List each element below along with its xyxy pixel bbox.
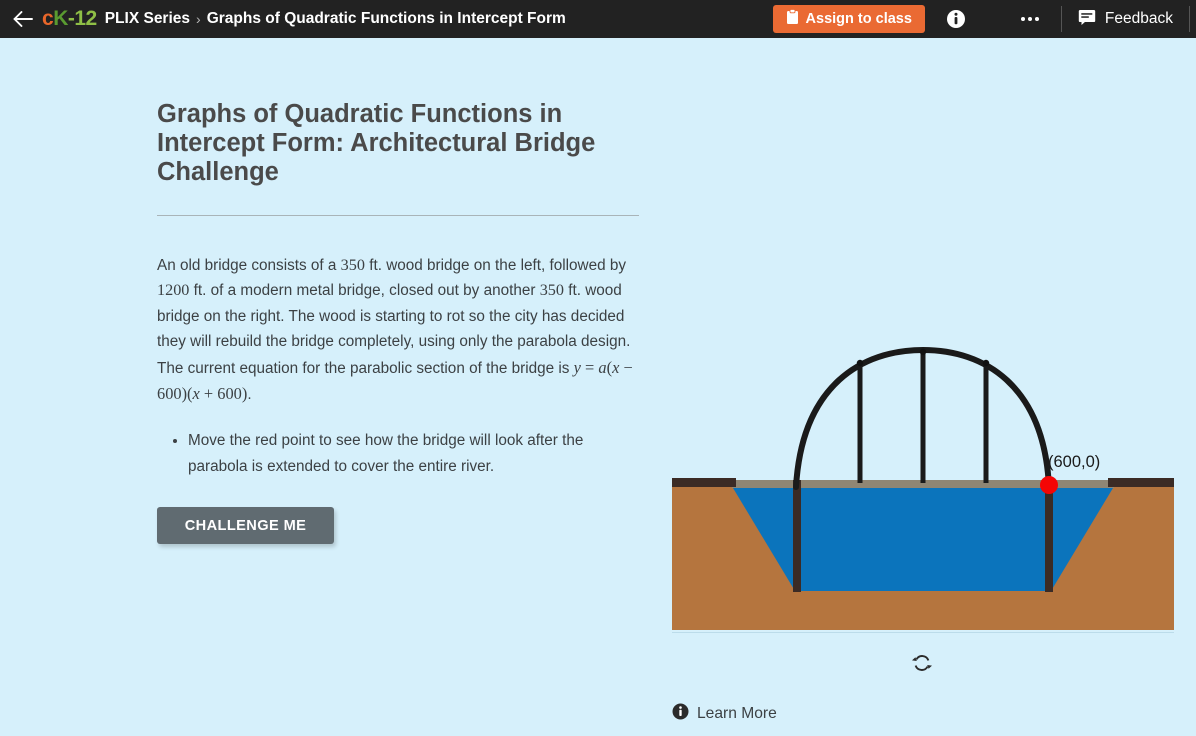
- ellipsis-dot: [1035, 17, 1039, 21]
- breadcrumb-current-page: Graphs of Quadratic Functions in Interce…: [207, 10, 566, 28]
- equation-y: y: [574, 358, 581, 377]
- more-options-icon[interactable]: [1015, 8, 1045, 30]
- ck12-logo[interactable]: cK-12: [42, 7, 97, 31]
- river-water: [730, 483, 1116, 591]
- point-coordinate-label: (600,0): [1048, 453, 1100, 472]
- ellipsis-dot: [1021, 17, 1025, 21]
- description-text-2: ft. wood bridge on the left, followed by: [365, 257, 626, 274]
- top-bar-actions: Assign to class F: [773, 0, 1196, 38]
- equation-a: a: [598, 358, 606, 377]
- breadcrumb-separator: ›: [196, 11, 201, 27]
- back-arrow-icon[interactable]: [10, 6, 36, 32]
- info-circle-icon[interactable]: [945, 8, 967, 30]
- value-350-left: 350: [341, 256, 365, 274]
- toolbar-divider: [1061, 6, 1062, 32]
- logo-part-c: c: [42, 7, 53, 30]
- cable-anchor-dot: [920, 349, 926, 355]
- clipboard-icon: [786, 9, 799, 29]
- info-circle-icon: [672, 703, 689, 725]
- equation-minus: −: [619, 358, 632, 377]
- assign-to-class-button[interactable]: Assign to class: [773, 5, 925, 33]
- description-text-5: .: [247, 386, 251, 403]
- value-1200-metal: 1200: [157, 281, 189, 299]
- bridge-simulation[interactable]: (600,0): [672, 340, 1174, 630]
- page-title: Graphs of Quadratic Functions in Interce…: [157, 100, 627, 187]
- ellipsis-dot: [1028, 17, 1032, 21]
- lesson-content-column: Graphs of Quadratic Functions in Interce…: [157, 100, 641, 544]
- equation-600-a: 600: [157, 384, 182, 403]
- description-text-3: ft. of a modern metal bridge, closed out…: [189, 282, 539, 299]
- simulation-bottom-divider: [672, 632, 1174, 633]
- wood-bridge-left: [672, 478, 736, 487]
- toolbar-divider: [1189, 6, 1190, 32]
- cable-anchor-dot: [983, 360, 989, 366]
- title-divider: [157, 215, 639, 216]
- equation-plus: +: [200, 384, 217, 403]
- equation-600-b: 600: [217, 384, 242, 403]
- draggable-red-point[interactable]: [1040, 476, 1058, 494]
- value-350-right: 350: [540, 281, 564, 299]
- breadcrumb-plix-series[interactable]: PLIX Series: [105, 10, 190, 28]
- instruction-list: Move the red point to see how the bridge…: [157, 428, 641, 479]
- equation-x-2: x: [193, 384, 200, 403]
- description-text-1: An old bridge consists of a: [157, 257, 341, 274]
- equation-equals: =: [581, 358, 598, 377]
- support-pier-right: [1045, 480, 1053, 592]
- challenge-me-button[interactable]: CHALLENGE ME: [157, 507, 334, 544]
- assign-to-class-label: Assign to class: [806, 11, 912, 27]
- learn-more-link[interactable]: Learn More: [672, 703, 777, 725]
- list-item: Move the red point to see how the bridge…: [188, 428, 613, 479]
- equation-paren-close-open: )(: [182, 384, 193, 403]
- logo-part-12: -12: [68, 7, 97, 30]
- top-navigation-bar: cK-12 PLIX Series › Graphs of Quadratic …: [0, 0, 1196, 38]
- learn-more-label: Learn More: [697, 705, 777, 723]
- comment-icon: [1078, 9, 1096, 30]
- logo-part-k: K: [53, 7, 68, 30]
- feedback-button[interactable]: Feedback: [1078, 9, 1173, 30]
- wood-bridge-right: [1108, 478, 1174, 487]
- cable-anchor-dot: [857, 360, 863, 366]
- feedback-label: Feedback: [1105, 10, 1173, 28]
- support-pier-left: [793, 480, 801, 592]
- refresh-icon[interactable]: [908, 650, 936, 676]
- problem-description: An old bridge consists of a 350 ft. wood…: [157, 253, 641, 407]
